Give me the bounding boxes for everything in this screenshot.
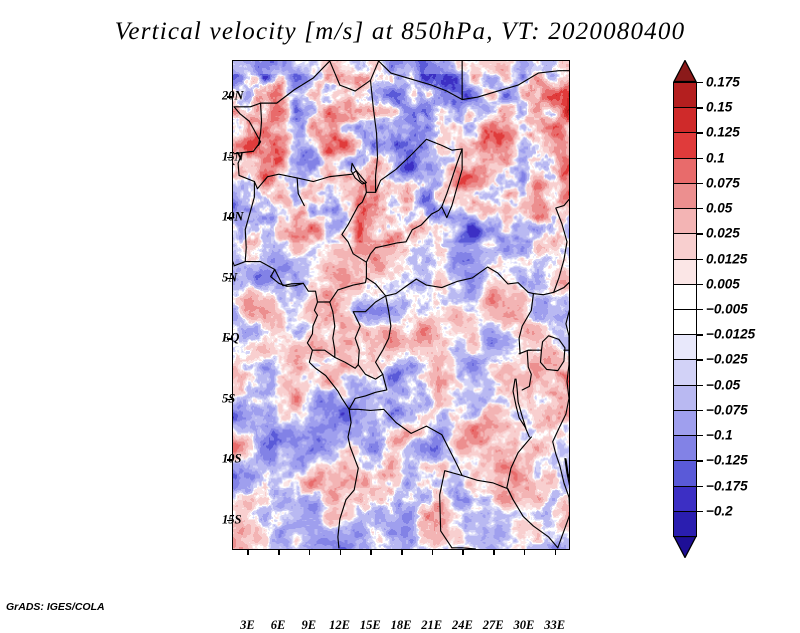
colorbar-tick xyxy=(697,82,703,83)
colorbar-tick xyxy=(697,107,703,108)
colorbar-label--0.025: −0.025 xyxy=(706,352,748,367)
colorbar-swatch xyxy=(673,486,697,513)
colorbar-label-0.175: 0.175 xyxy=(706,75,740,90)
colorbar-tick xyxy=(697,284,703,285)
colorbar-swatch xyxy=(673,259,697,286)
colorbar-tick xyxy=(697,309,703,310)
colorbar: 0.1750.150.1250.10.0750.050.0250.01250.0… xyxy=(673,60,697,558)
x-tick-mark xyxy=(493,550,495,555)
x-tick-label-30E: 30E xyxy=(513,618,534,633)
colorbar-tick xyxy=(697,460,703,461)
colorbar-tick xyxy=(697,233,703,234)
x-tick-label-21E: 21E xyxy=(421,618,442,633)
colorbar-label--0.0125: −0.0125 xyxy=(706,327,755,342)
colorbar-cap-bottom xyxy=(673,536,697,558)
colorbar-label-0.15: 0.15 xyxy=(706,100,732,115)
x-tick-mark xyxy=(370,550,372,555)
colorbar-label--0.125: −0.125 xyxy=(706,453,748,468)
colorbar-swatch xyxy=(673,334,697,361)
colorbar-tick xyxy=(697,435,703,436)
colorbar-label-0.025: 0.025 xyxy=(706,226,740,241)
colorbar-label--0.175: −0.175 xyxy=(706,478,748,493)
x-tick-mark xyxy=(247,550,249,555)
colorbar-tick xyxy=(697,132,703,133)
colorbar-label--0.005: −0.005 xyxy=(706,302,748,317)
colorbar-swatch xyxy=(673,284,697,311)
colorbar-swatch xyxy=(673,107,697,134)
colorbar-tick xyxy=(697,158,703,159)
x-tick-label-9E: 9E xyxy=(302,618,317,633)
x-tick-mark xyxy=(524,550,526,555)
colorbar-swatch xyxy=(673,511,697,538)
colorbar-tick xyxy=(697,385,703,386)
colorbar-swatch xyxy=(673,309,697,336)
colorbar-swatch xyxy=(673,359,697,386)
x-tick-mark xyxy=(432,550,434,555)
colorbar-label--0.075: −0.075 xyxy=(706,402,748,417)
colorbar-swatch xyxy=(673,132,697,159)
colorbar-label-0.0125: 0.0125 xyxy=(706,251,747,266)
colorbar-label-0.125: 0.125 xyxy=(706,125,740,140)
colorbar-swatch xyxy=(673,158,697,185)
x-tick-label-33E: 33E xyxy=(544,618,565,633)
colorbar-swatch xyxy=(673,385,697,412)
colorbar-label--0.05: −0.05 xyxy=(706,377,740,392)
colorbar-tick xyxy=(697,486,703,487)
colorbar-label--0.2: −0.2 xyxy=(706,503,733,518)
x-tick-mark xyxy=(340,550,342,555)
x-tick-mark xyxy=(401,550,403,555)
colorbar-swatch xyxy=(673,435,697,462)
colorbar-swatch xyxy=(673,410,697,437)
x-tick-label-27E: 27E xyxy=(483,618,504,633)
x-tick-label-15E: 15E xyxy=(360,618,381,633)
colorbar-label--0.1: −0.1 xyxy=(706,428,733,443)
x-tick-label-12E: 12E xyxy=(329,618,350,633)
x-tick-label-3E: 3E xyxy=(240,618,255,633)
colorbar-label-0.05: 0.05 xyxy=(706,201,732,216)
x-tick-label-18E: 18E xyxy=(391,618,412,633)
x-tick-mark xyxy=(309,550,311,555)
x-tick-label-24E: 24E xyxy=(452,618,473,633)
colorbar-tick xyxy=(697,183,703,184)
grads-credit: GrADS: IGES/COLA xyxy=(6,601,105,613)
colorbar-swatch xyxy=(673,183,697,210)
colorbar-swatch xyxy=(673,233,697,260)
colorbar-tick xyxy=(697,410,703,411)
colorbar-swatch xyxy=(673,82,697,109)
colorbar-cap-top xyxy=(673,60,697,82)
x-tick-mark xyxy=(278,550,280,555)
colorbar-swatch xyxy=(673,208,697,235)
colorbar-tick xyxy=(697,208,703,209)
x-tick-mark xyxy=(462,550,464,555)
x-tick-label-6E: 6E xyxy=(271,618,286,633)
colorbar-label-0.075: 0.075 xyxy=(706,175,740,190)
colorbar-swatch xyxy=(673,460,697,487)
colorbar-label-0.1: 0.1 xyxy=(706,150,725,165)
page-title: Vertical velocity [m/s] at 850hPa, VT: 2… xyxy=(0,18,800,46)
x-axis: 3E6E9E12E15E18E21E24E27E30E33E xyxy=(232,60,570,550)
colorbar-label-0.005: 0.005 xyxy=(706,276,740,291)
colorbar-tick xyxy=(697,259,703,260)
colorbar-tick xyxy=(697,511,703,512)
colorbar-tick xyxy=(697,334,703,335)
colorbar-tick xyxy=(697,359,703,360)
x-tick-mark xyxy=(555,550,557,555)
